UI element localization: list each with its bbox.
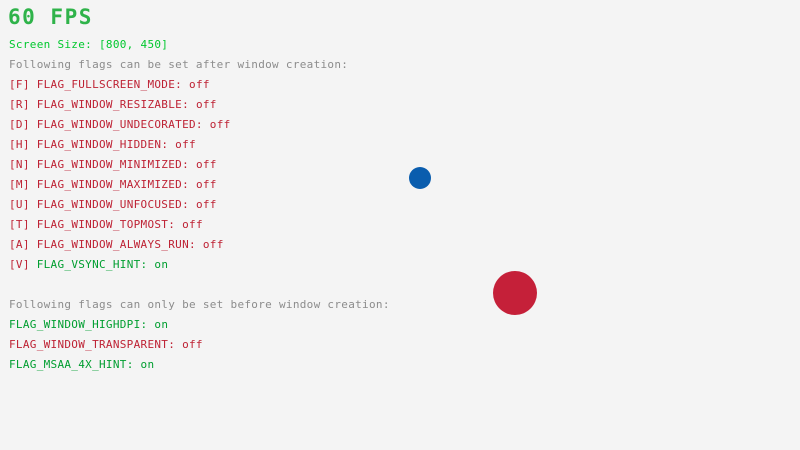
bouncing-ball-red xyxy=(493,271,537,315)
fps-counter: 60 FPS xyxy=(8,5,93,29)
flag-separator: : xyxy=(182,98,196,111)
flag-separator: : xyxy=(127,358,141,371)
flag-separator: : xyxy=(168,338,182,351)
flag-name-label: FLAG_WINDOW_HIGHDPI xyxy=(9,318,141,331)
flag-separator: : xyxy=(175,78,189,91)
flag-separator: : xyxy=(182,178,196,191)
flag-row-flag-window-hidden[interactable]: [H] FLAG_WINDOW_HIDDEN: off xyxy=(9,138,196,151)
flag-row-flag-window-transparent[interactable]: FLAG_WINDOW_TRANSPARENT: off xyxy=(9,338,203,351)
flag-name-label: FLAG_WINDOW_HIDDEN xyxy=(37,138,162,151)
flag-name-label: FLAG_WINDOW_UNFOCUSED xyxy=(37,198,182,211)
flag-name-label: FLAG_MSAA_4X_HINT xyxy=(9,358,127,371)
flag-name-label: FLAG_VSYNC_HINT xyxy=(37,258,141,271)
bouncing-ball-blue xyxy=(409,167,431,189)
flag-separator: : xyxy=(168,218,182,231)
flag-row-flag-vsync-hint[interactable]: [V] FLAG_VSYNC_HINT: on xyxy=(9,258,168,271)
flag-state-value: off xyxy=(196,198,217,211)
flag-row-flag-window-topmost[interactable]: [T] FLAG_WINDOW_TOPMOST: off xyxy=(9,218,203,231)
flag-shortcut-key: [V] xyxy=(9,258,37,271)
flag-state-value: on xyxy=(154,258,168,271)
flag-row-flag-window-always-run[interactable]: [A] FLAG_WINDOW_ALWAYS_RUN: off xyxy=(9,238,224,251)
flag-state-value: off xyxy=(203,238,224,251)
flag-name-label: FLAG_WINDOW_TOPMOST xyxy=(37,218,169,231)
flag-row-flag-window-resizable[interactable]: [R] FLAG_WINDOW_RESIZABLE: off xyxy=(9,98,217,111)
flag-row-flag-fullscreen-mode[interactable]: [F] FLAG_FULLSCREEN_MODE: off xyxy=(9,78,210,91)
section-heading-after-creation: Following flags can be set after window … xyxy=(9,58,348,71)
flag-name-label: FLAG_WINDOW_MINIMIZED xyxy=(37,158,182,171)
flag-row-flag-window-undecorated[interactable]: [D] FLAG_WINDOW_UNDECORATED: off xyxy=(9,118,231,131)
flag-shortcut-key: [H] xyxy=(9,138,37,151)
flag-row-flag-msaa-4x-hint[interactable]: FLAG_MSAA_4X_HINT: on xyxy=(9,358,154,371)
flag-name-label: FLAG_WINDOW_ALWAYS_RUN xyxy=(37,238,189,251)
flag-state-value: on xyxy=(154,318,168,331)
flag-row-flag-window-maximized[interactable]: [M] FLAG_WINDOW_MAXIMIZED: off xyxy=(9,178,217,191)
flag-separator: : xyxy=(161,138,175,151)
flag-shortcut-key: [R] xyxy=(9,98,37,111)
flag-state-value: off xyxy=(175,138,196,151)
flag-name-label: FLAG_FULLSCREEN_MODE xyxy=(37,78,175,91)
flag-shortcut-key: [D] xyxy=(9,118,37,131)
flag-shortcut-key: [U] xyxy=(9,198,37,211)
flag-state-value: off xyxy=(182,338,203,351)
flag-state-value: off xyxy=(196,98,217,111)
section-heading-before-creation: Following flags can only be set before w… xyxy=(9,298,390,311)
flag-separator: : xyxy=(141,318,155,331)
screen-size-readout: Screen Size: [800, 450] xyxy=(9,38,168,51)
flag-shortcut-key: [F] xyxy=(9,78,37,91)
flag-name-label: FLAG_WINDOW_UNDECORATED xyxy=(37,118,196,131)
flag-state-value: off xyxy=(189,78,210,91)
raylib-window-canvas: 60 FPS Screen Size: [800, 450] Following… xyxy=(0,0,800,450)
flag-state-value: off xyxy=(182,218,203,231)
flag-separator: : xyxy=(182,158,196,171)
flag-row-flag-window-highdpi[interactable]: FLAG_WINDOW_HIGHDPI: on xyxy=(9,318,168,331)
flag-state-value: off xyxy=(196,178,217,191)
flag-separator: : xyxy=(182,198,196,211)
flag-row-flag-window-unfocused[interactable]: [U] FLAG_WINDOW_UNFOCUSED: off xyxy=(9,198,217,211)
flag-state-value: off xyxy=(196,158,217,171)
flag-shortcut-key: [T] xyxy=(9,218,37,231)
flag-name-label: FLAG_WINDOW_TRANSPARENT xyxy=(9,338,168,351)
flag-shortcut-key: [M] xyxy=(9,178,37,191)
flag-separator: : xyxy=(196,118,210,131)
flag-state-value: off xyxy=(210,118,231,131)
flag-shortcut-key: [A] xyxy=(9,238,37,251)
flag-name-label: FLAG_WINDOW_RESIZABLE xyxy=(37,98,182,111)
flag-separator: : xyxy=(189,238,203,251)
flag-name-label: FLAG_WINDOW_MAXIMIZED xyxy=(37,178,182,191)
flag-shortcut-key: [N] xyxy=(9,158,37,171)
flag-row-flag-window-minimized[interactable]: [N] FLAG_WINDOW_MINIMIZED: off xyxy=(9,158,217,171)
flag-state-value: on xyxy=(141,358,155,371)
flag-separator: : xyxy=(141,258,155,271)
